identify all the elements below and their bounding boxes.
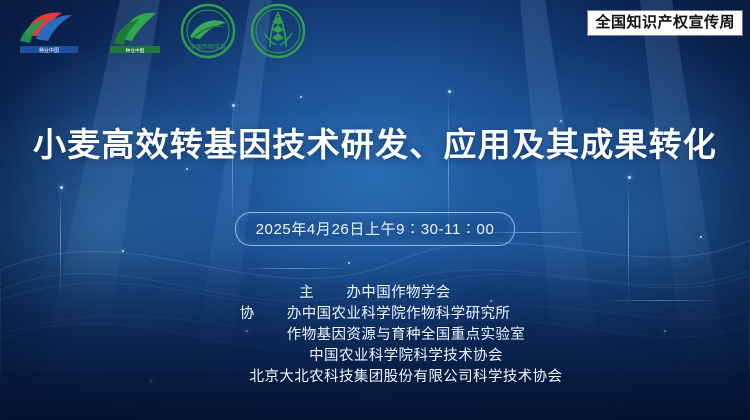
poster-root: 种业中国 种业中国 中国作物学会 bbox=[0, 0, 750, 420]
co-organizer-value: 作物基因资源与育种全国重点实验室 bbox=[287, 325, 525, 346]
svg-text:中国作物学会: 中国作物学会 bbox=[190, 43, 226, 51]
logo-wheat-emblem bbox=[250, 3, 306, 59]
co-organizer-row: 协办 中国农业科学院作物科学研究所 bbox=[0, 304, 750, 325]
co-organizer-value: 北京大北农科技集团股份有限公司科学技术协会 bbox=[250, 367, 563, 388]
ip-week-badge: 全国知识产权宣传周 bbox=[588, 11, 742, 35]
co-organizer-value: 中国农业科学院科学技术协会 bbox=[309, 346, 503, 367]
co-organizer-value: 中国农业科学院作物科学研究所 bbox=[302, 304, 511, 325]
organizer-block: 主办 中国作物学会 协办 中国农业科学院作物科学研究所 协办 作物基因资源与育种… bbox=[0, 283, 750, 388]
co-organizer-row: 协办 北京大北农科技集团股份有限公司科学技术协会 bbox=[0, 367, 750, 388]
organizer-row: 主办 中国作物学会 bbox=[0, 283, 750, 304]
logo-green-seed: 种业中国 bbox=[104, 5, 166, 57]
page-title: 小麦高效转基因技术研发、应用及其成果转化 bbox=[0, 118, 750, 166]
co-organizer-label: 协办 bbox=[240, 304, 302, 325]
date-container: 2025年4月26日上午9∶30-11∶00 bbox=[0, 212, 750, 246]
co-organizer-row: 协办 中国农业科学院科学技术协会 bbox=[0, 346, 750, 367]
logo-crop-science-society: 中国作物学会 bbox=[180, 3, 236, 59]
organizer-label: 主办 bbox=[299, 283, 361, 304]
svg-text:种业中国: 种业中国 bbox=[126, 47, 145, 54]
event-date-time: 2025年4月26日上午9∶30-11∶00 bbox=[235, 212, 516, 246]
logo-csa-seed: 种业中国 bbox=[12, 5, 90, 57]
co-organizer-row: 协办 作物基因资源与育种全国重点实验室 bbox=[0, 325, 750, 346]
organizer-value: 中国作物学会 bbox=[361, 283, 450, 304]
svg-text:种业中国: 种业中国 bbox=[39, 47, 59, 54]
